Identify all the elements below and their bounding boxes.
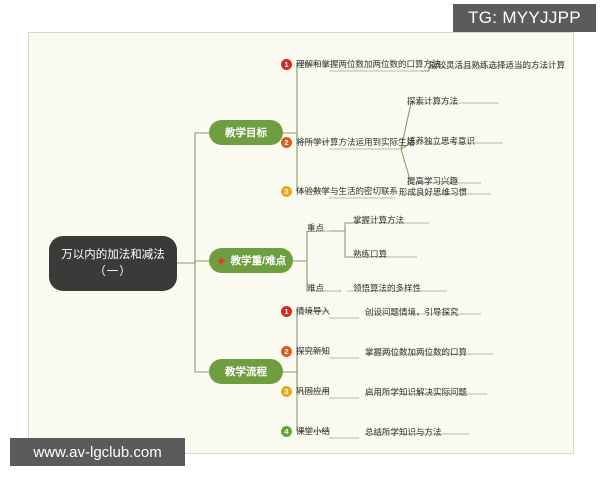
flow-item-1[interactable]: 1 情境导入 — [281, 305, 330, 317]
branch-teaching-flow[interactable]: 教学流程 — [209, 359, 283, 384]
flow-item-3-text: 巩固应用 — [296, 385, 330, 397]
goal-item-2-leaf-1[interactable]: 探索计算方法 — [407, 95, 458, 107]
goal-item-2-text: 将所学计算方法运用到实际生活 — [296, 136, 415, 148]
site-watermark: www.av-lgclub.com — [10, 438, 185, 466]
flow-item-4-leaf-1[interactable]: 总结所学知识与方法 — [365, 426, 442, 438]
goal-item-1[interactable]: 1 理解和掌握两位数加两位数的口算方法 — [281, 58, 441, 70]
focus-key-leaf-1[interactable]: 掌握计算方法 — [353, 214, 404, 226]
badge-number-icon: 3 — [281, 386, 292, 397]
flow-item-3-leaf-1[interactable]: 启用所学知识解决实际问题 — [365, 386, 467, 398]
tg-banner: TG: MYYJJPP — [453, 4, 596, 32]
goal-item-2-leaf-2[interactable]: 培养独立思考意识 — [407, 135, 475, 147]
focus-difficult-leaf-1[interactable]: 领悟算法的多样性 — [353, 282, 421, 294]
badge-number-icon: 1 — [281, 59, 292, 70]
flow-item-1-text: 情境导入 — [296, 305, 330, 317]
badge-number-icon: 2 — [281, 137, 292, 148]
badge-number-icon: 4 — [281, 426, 292, 437]
flow-item-4-text: 课堂小结 — [296, 425, 330, 437]
branch-teaching-goals-label: 教学目标 — [225, 125, 267, 140]
flow-item-2-leaf-1[interactable]: 掌握两位数加两位数的口算 — [365, 346, 467, 358]
goal-item-1-text: 理解和掌握两位数加两位数的口算方法 — [296, 58, 441, 70]
focus-group-key-label[interactable]: 重点 — [307, 222, 324, 234]
badge-number-icon: 1 — [281, 306, 292, 317]
flow-item-2[interactable]: 2 探究新知 — [281, 345, 330, 357]
goal-item-3-leaf-1[interactable]: 形成良好思维习惯 — [399, 186, 467, 198]
flow-item-3[interactable]: 3 巩固应用 — [281, 385, 330, 397]
flow-item-4[interactable]: 4 课堂小结 — [281, 425, 330, 437]
branch-teaching-goals[interactable]: 教学目标 — [209, 120, 283, 145]
flow-item-1-leaf-1[interactable]: 创设问题情境，引导探究 — [365, 306, 459, 318]
root-node-line1: 万以内的加法和减法 — [61, 247, 165, 264]
badge-number-icon: 3 — [281, 186, 292, 197]
goal-item-3-text: 体验数学与生活的密切联系 — [296, 185, 398, 197]
goal-item-1-leaf-1[interactable]: 能较灵活且熟练选择适当的方法计算 — [429, 59, 565, 71]
tg-banner-label: TG: MYYJJPP — [468, 8, 581, 28]
star-icon: ★ — [216, 255, 227, 267]
focus-key-leaf-2[interactable]: 熟练口算 — [353, 248, 387, 260]
root-node[interactable]: 万以内的加法和减法 （一） — [49, 236, 177, 291]
branch-teaching-flow-label: 教学流程 — [225, 364, 267, 379]
goal-item-3[interactable]: 3 体验数学与生活的密切联系 — [281, 185, 398, 197]
badge-number-icon: 2 — [281, 346, 292, 357]
focus-group-difficult-label[interactable]: 难点 — [307, 282, 324, 294]
branch-key-difficult-points[interactable]: ★ 教学重/难点 — [209, 248, 293, 273]
goal-item-2[interactable]: 2 将所学计算方法运用到实际生活 — [281, 136, 415, 148]
mindmap-canvas[interactable]: 万以内的加法和减法 （一） 教学目标 ★ 教学重/难点 教学流程 1 理解和掌握… — [28, 32, 574, 454]
root-node-line2: （一） — [94, 264, 132, 281]
site-watermark-label: www.av-lgclub.com — [33, 444, 161, 461]
flow-item-2-text: 探究新知 — [296, 345, 330, 357]
branch-key-difficult-points-label: 教学重/难点 — [231, 253, 286, 268]
